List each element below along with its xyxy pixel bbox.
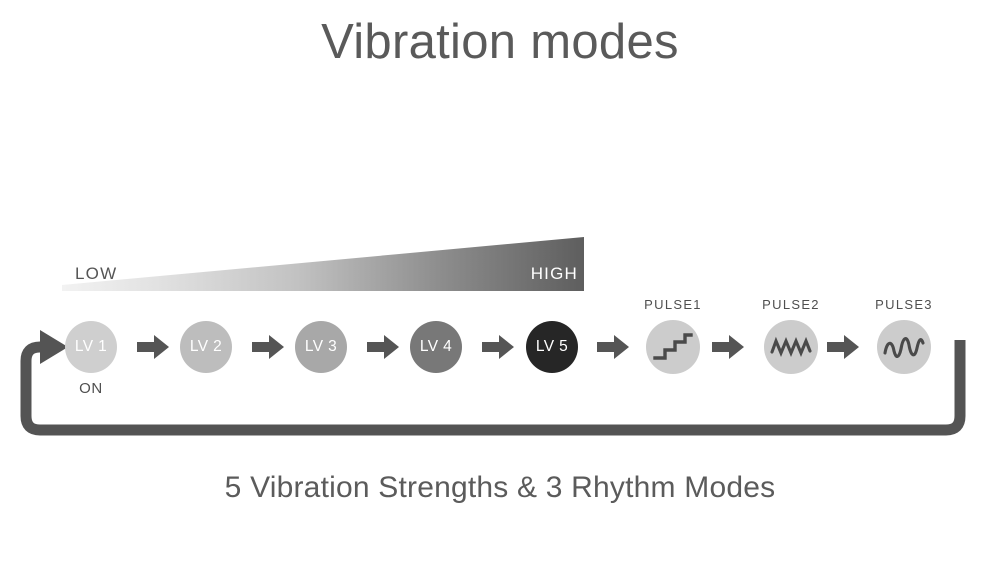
level-node-lv1[interactable]: LV 1: [65, 321, 117, 373]
summary-caption: 5 Vibration Strengths & 3 Rhythm Modes: [0, 471, 1000, 505]
level-label: LV 3: [305, 338, 337, 356]
level-node-lv5[interactable]: LV 5: [526, 321, 578, 373]
arrow-icon-2: [252, 334, 284, 360]
level-node-lv3[interactable]: LV 3: [295, 321, 347, 373]
arrow-icon-1: [137, 334, 169, 360]
sine-wave-icon: [883, 331, 925, 363]
level-label: LV 5: [536, 338, 568, 356]
gradient-high-label: HIGH: [531, 264, 578, 284]
level-label: LV 4: [420, 338, 452, 356]
level-node-lv4[interactable]: LV 4: [410, 321, 462, 373]
level-node-lv2[interactable]: LV 2: [180, 321, 232, 373]
pulse-caption-3: PULSE3: [864, 297, 944, 312]
level-sub-label-on: ON: [65, 380, 117, 397]
wedge-shape: [60, 232, 586, 294]
step-wave-icon: [653, 332, 693, 362]
page-title: Vibration modes: [0, 14, 1000, 70]
arrow-icon-6: [712, 334, 744, 360]
arrow-icon-5: [597, 334, 629, 360]
arrow-icon-7: [827, 334, 859, 360]
arrow-icon-4: [482, 334, 514, 360]
gradient-low-label: LOW: [75, 264, 117, 284]
pulse-node-3[interactable]: [877, 320, 931, 374]
intensity-gradient-wedge: LOW HIGH: [60, 232, 586, 294]
arrow-icon-3: [367, 334, 399, 360]
vibration-modes-infographic: Vibration modes LOW HIGH LV 1 ON: [0, 0, 1000, 587]
pulse-node-1[interactable]: [646, 320, 700, 374]
cycle-loop-arrow: [0, 300, 1000, 450]
level-label: LV 2: [190, 338, 222, 356]
pulse-node-2[interactable]: [764, 320, 818, 374]
sawtooth-wave-icon: [770, 332, 812, 362]
level-label: LV 1: [75, 338, 107, 356]
pulse-caption-1: PULSE1: [633, 297, 713, 312]
loop-arrowhead: [40, 330, 68, 364]
pulse-caption-2: PULSE2: [751, 297, 831, 312]
